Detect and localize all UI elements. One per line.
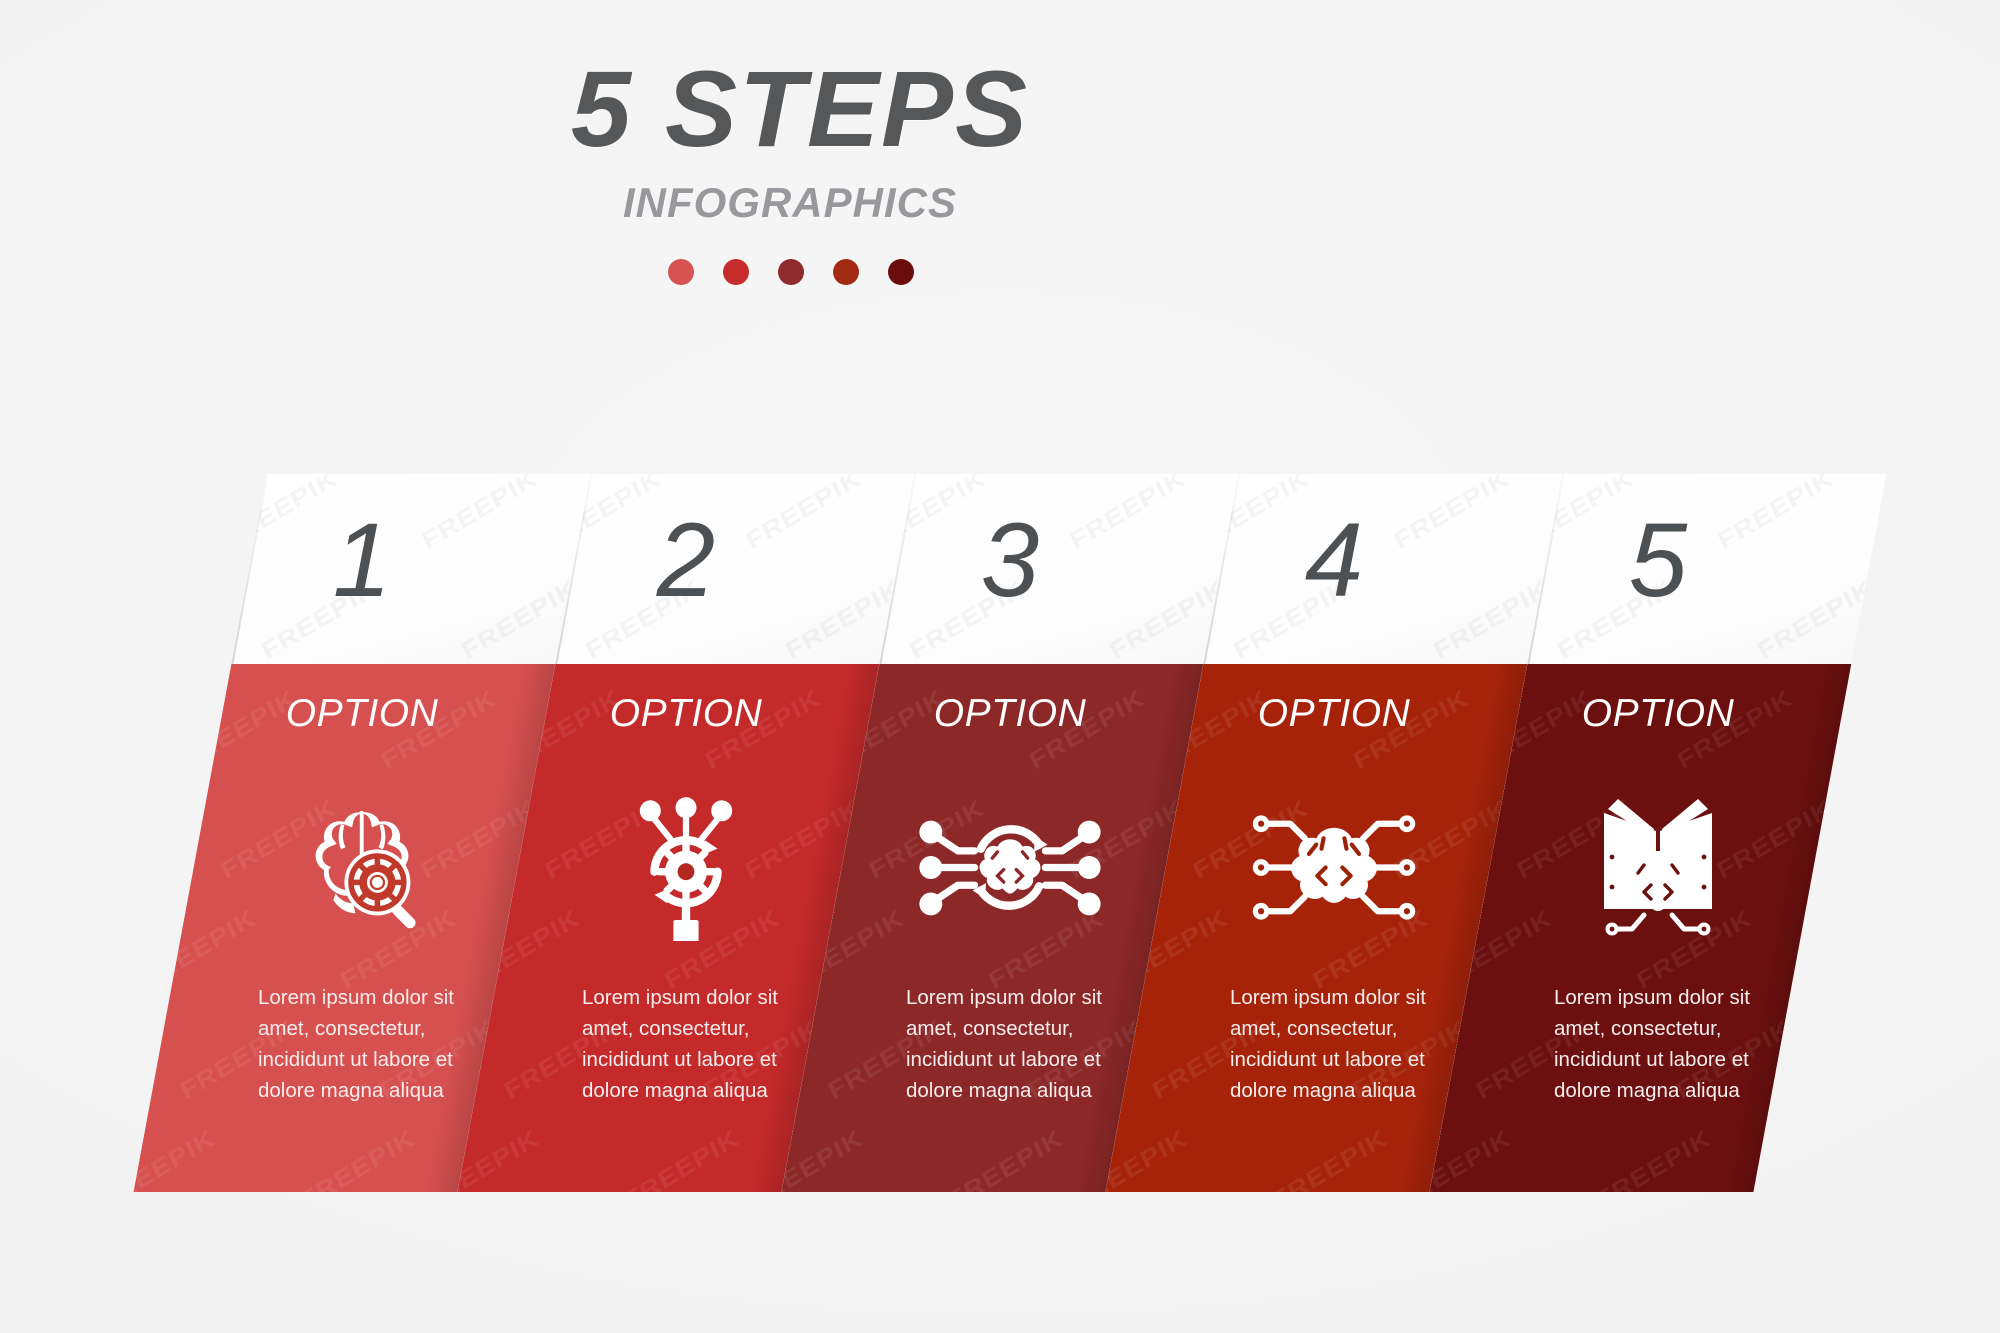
step-indicator-dots [0,259,1791,285]
brain-magnifier-gear-icon [200,792,524,942]
gear-cycle-neural-nodes-icon [524,792,848,942]
dot-4[interactable] [833,259,859,285]
page-subtitle: INFOGRAPHICS [0,179,1790,227]
step-description: Lorem ipsum dolor sit amet, consectetur,… [906,982,1118,1107]
step-label: OPTION [200,692,524,736]
page-title: 5 STEPS [0,52,1800,165]
steps-board: FREEPIKFREEPIKFREEPIKFREEPIKFREEPIKFREEP… [0,474,2000,1192]
dot-5[interactable] [888,259,914,285]
brain-circuit-icon [1172,792,1496,942]
book-brain-circuit-icon [1496,792,1820,942]
step-number: 1 [200,508,524,613]
dot-2[interactable] [723,259,749,285]
brain-cycle-network-icon [848,792,1172,942]
dot-3[interactable] [778,259,804,285]
dot-1[interactable] [668,259,694,285]
step-description: Lorem ipsum dolor sit amet, consectetur,… [258,982,470,1107]
step-description: Lorem ipsum dolor sit amet, consectetur,… [1230,982,1442,1107]
infographic-header: 5 STEPS INFOGRAPHICS [0,0,2000,285]
step-description: Lorem ipsum dolor sit amet, consectetur,… [1554,982,1766,1107]
step-label: OPTION [1172,692,1496,736]
step-label: OPTION [524,692,848,736]
step-label: OPTION [848,692,1172,736]
step-description: Lorem ipsum dolor sit amet, consectetur,… [582,982,794,1107]
step-label: OPTION [1496,692,1820,736]
